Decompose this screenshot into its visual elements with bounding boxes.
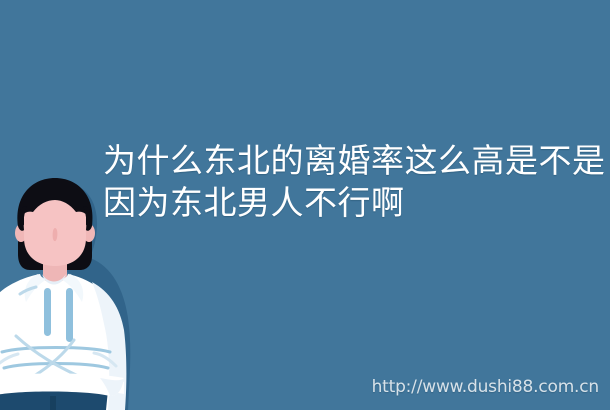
headline-text: 为什么东北的离婚率这么高是不是 因为东北男人不行啊 (103, 140, 600, 224)
pants-center-seam (50, 396, 56, 410)
drawstring-left (44, 288, 51, 336)
drawstring-right (66, 288, 73, 342)
headline-line-1: 为什么东北的离婚率这么高是不是 (103, 140, 600, 182)
headline-line-2: 因为东北男人不行啊 (103, 182, 600, 224)
image-canvas: 为什么东北的离婚率这么高是不是 因为东北男人不行啊 http://www.dus… (0, 0, 610, 410)
watermark-url: http://www.dushi88.com.cn (372, 377, 599, 397)
